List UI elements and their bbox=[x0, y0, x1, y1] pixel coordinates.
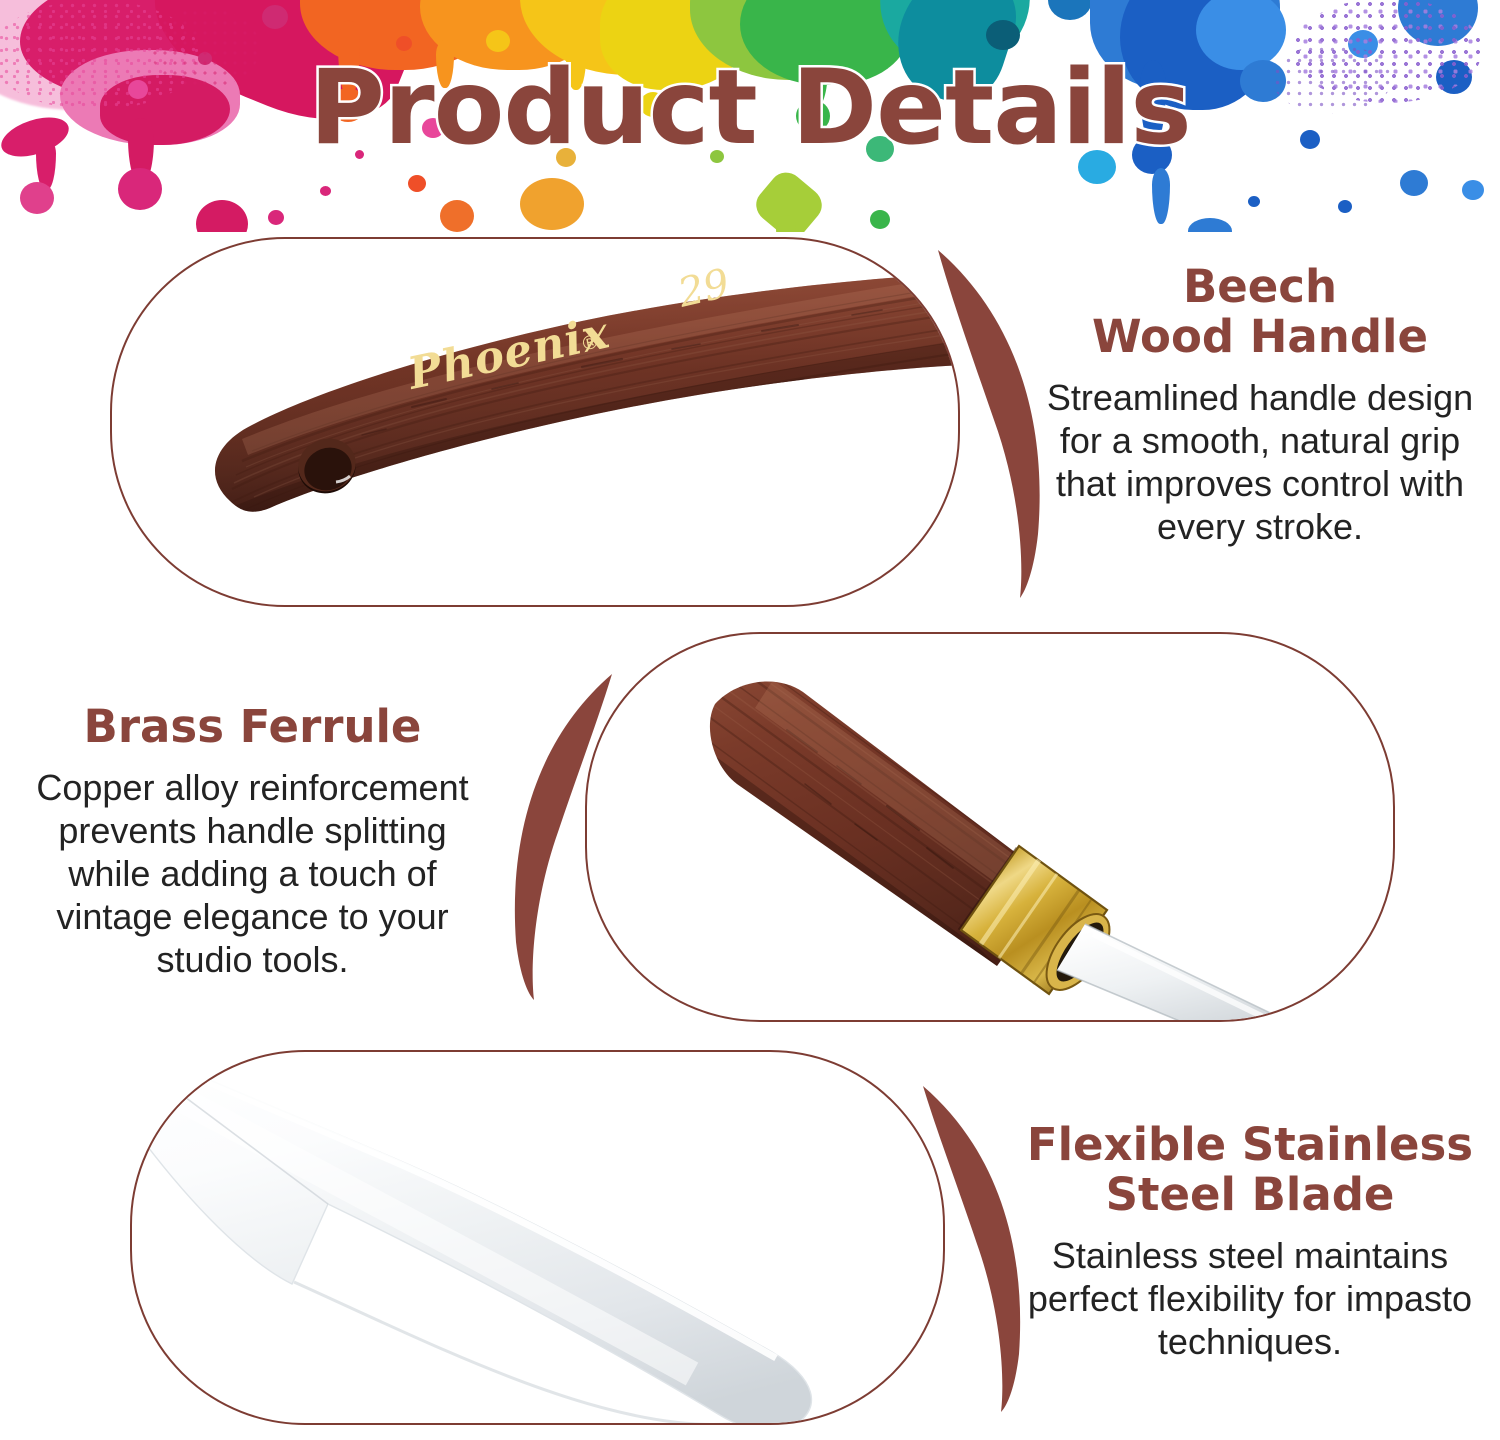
feature-brass-ferrule: Brass Ferrule Copper alloy reinforcement… bbox=[0, 620, 1500, 1040]
product-image-handle: Phoenix ® 29 bbox=[112, 239, 958, 605]
feature-text-blade: Flexible Stainless Steel Blade Stainless… bbox=[1020, 1120, 1480, 1363]
feature-body-ferrule: Copper alloy reinforcement prevents hand… bbox=[15, 766, 490, 981]
feature-title-handle: Beech Wood Handle bbox=[1040, 262, 1480, 362]
image-frame-blade bbox=[130, 1050, 945, 1425]
feature-title-ferrule: Brass Ferrule bbox=[15, 702, 490, 752]
accent-crescent-right bbox=[920, 242, 1050, 602]
image-frame-ferrule bbox=[585, 632, 1395, 1022]
feature-body-handle: Streamlined handle design for a smooth, … bbox=[1040, 376, 1480, 548]
accent-crescent-right bbox=[905, 1080, 1035, 1410]
feature-text-ferrule: Brass Ferrule Copper alloy reinforcement… bbox=[15, 702, 490, 981]
feature-body-blade: Stainless steel maintains perfect flexib… bbox=[1020, 1234, 1480, 1363]
feature-title-blade: Flexible Stainless Steel Blade bbox=[1020, 1120, 1480, 1220]
accent-crescent-left bbox=[500, 668, 630, 998]
product-image-blade bbox=[132, 1052, 943, 1423]
feature-text-handle: Beech Wood Handle Streamlined handle des… bbox=[1040, 262, 1480, 548]
product-image-ferrule bbox=[587, 634, 1393, 1020]
feature-beech-wood-handle: Phoenix ® 29 Beech Wood Handle Streamlin… bbox=[0, 232, 1500, 622]
page-title: Product Details bbox=[0, 56, 1500, 160]
image-frame-handle: Phoenix ® 29 bbox=[110, 237, 960, 607]
feature-steel-blade: Flexible Stainless Steel Blade Stainless… bbox=[0, 1040, 1500, 1440]
header-banner: Product Details bbox=[0, 0, 1500, 232]
